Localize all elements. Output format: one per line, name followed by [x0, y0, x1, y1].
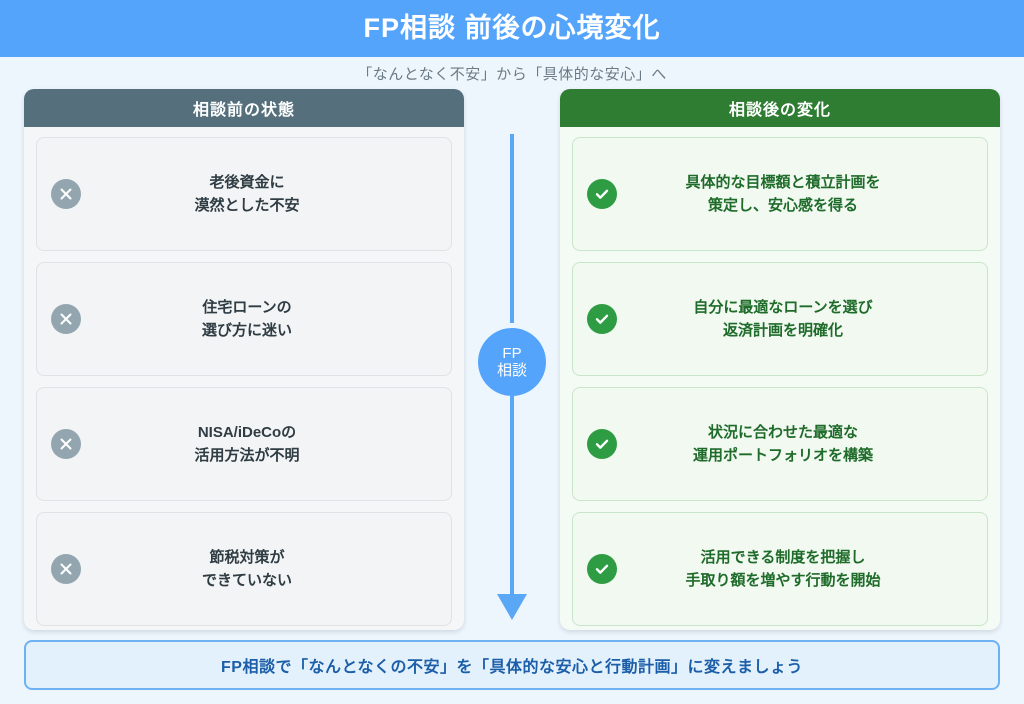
- infographic-page: FP相談 前後の心境変化 「なんとなく不安」から「具体的な安心」へ 相談前の状態…: [0, 0, 1024, 704]
- after-card-text: 状況に合わせた最適な 運用ポートフォリオを構築: [623, 421, 973, 468]
- after-card-text: 活用できる制度を把握し 手取り額を増やす行動を開始: [623, 546, 973, 593]
- before-card: 老後資金に 漠然とした不安: [36, 137, 452, 251]
- after-panel: 相談後の変化 具体的な目標額と積立計画を 策定し、安心感を得る 自分に最適なロー…: [560, 89, 1000, 630]
- title-bar: FP相談 前後の心境変化: [0, 0, 1024, 57]
- footer-message-banner: FP相談で「なんとなくの不安」を「具体的な安心と行動計画」に変えましょう: [24, 640, 1000, 690]
- before-card: 節税対策が できていない: [36, 512, 452, 626]
- check-icon: [587, 304, 617, 334]
- before-panel: 相談前の状態 老後資金に 漠然とした不安 住宅ローンの 選び方に迷い: [24, 89, 464, 630]
- before-card: NISA/iDeCoの 活用方法が不明: [36, 387, 452, 501]
- before-panel-header: 相談前の状態: [24, 89, 464, 127]
- transition-arrow: FP 相談: [464, 89, 560, 630]
- page-subtitle: 「なんとなく不安」から「具体的な安心」へ: [0, 57, 1024, 89]
- before-card-list: 老後資金に 漠然とした不安 住宅ローンの 選び方に迷い NISA/iDeCoの …: [24, 127, 464, 630]
- cross-icon: [51, 554, 81, 584]
- after-card-list: 具体的な目標額と積立計画を 策定し、安心感を得る 自分に最適なローンを選び 返済…: [560, 127, 1000, 630]
- cross-icon: [51, 429, 81, 459]
- down-arrow-icon: [497, 594, 527, 620]
- cross-icon: [51, 304, 81, 334]
- after-panel-header: 相談後の変化: [560, 89, 1000, 127]
- footer-message-text: FP相談で「なんとなくの不安」を「具体的な安心と行動計画」に変えましょう: [221, 653, 803, 677]
- after-card: 自分に最適なローンを選び 返済計画を明確化: [572, 262, 988, 376]
- before-card-text: 老後資金に 漠然とした不安: [87, 171, 437, 218]
- check-icon: [587, 179, 617, 209]
- after-card: 活用できる制度を把握し 手取り額を増やす行動を開始: [572, 512, 988, 626]
- page-title: FP相談 前後の心境変化: [363, 15, 660, 42]
- after-card-text: 自分に最適なローンを選び 返済計画を明確化: [623, 296, 973, 343]
- check-icon: [587, 429, 617, 459]
- before-card-text: NISA/iDeCoの 活用方法が不明: [87, 421, 437, 468]
- after-card: 状況に合わせた最適な 運用ポートフォリオを構築: [572, 387, 988, 501]
- arrow-line-lower: [510, 396, 514, 600]
- after-card: 具体的な目標額と積立計画を 策定し、安心感を得る: [572, 137, 988, 251]
- before-card-text: 住宅ローンの 選び方に迷い: [87, 296, 437, 343]
- fp-badge-line1: FP: [502, 345, 521, 362]
- after-card-text: 具体的な目標額と積立計画を 策定し、安心感を得る: [623, 171, 973, 218]
- fp-consult-badge: FP 相談: [478, 328, 546, 396]
- check-icon: [587, 554, 617, 584]
- cross-icon: [51, 179, 81, 209]
- before-card-text: 節税対策が できていない: [87, 546, 437, 593]
- fp-badge-line2: 相談: [497, 362, 527, 379]
- arrow-line-upper: [510, 134, 514, 323]
- before-card: 住宅ローンの 選び方に迷い: [36, 262, 452, 376]
